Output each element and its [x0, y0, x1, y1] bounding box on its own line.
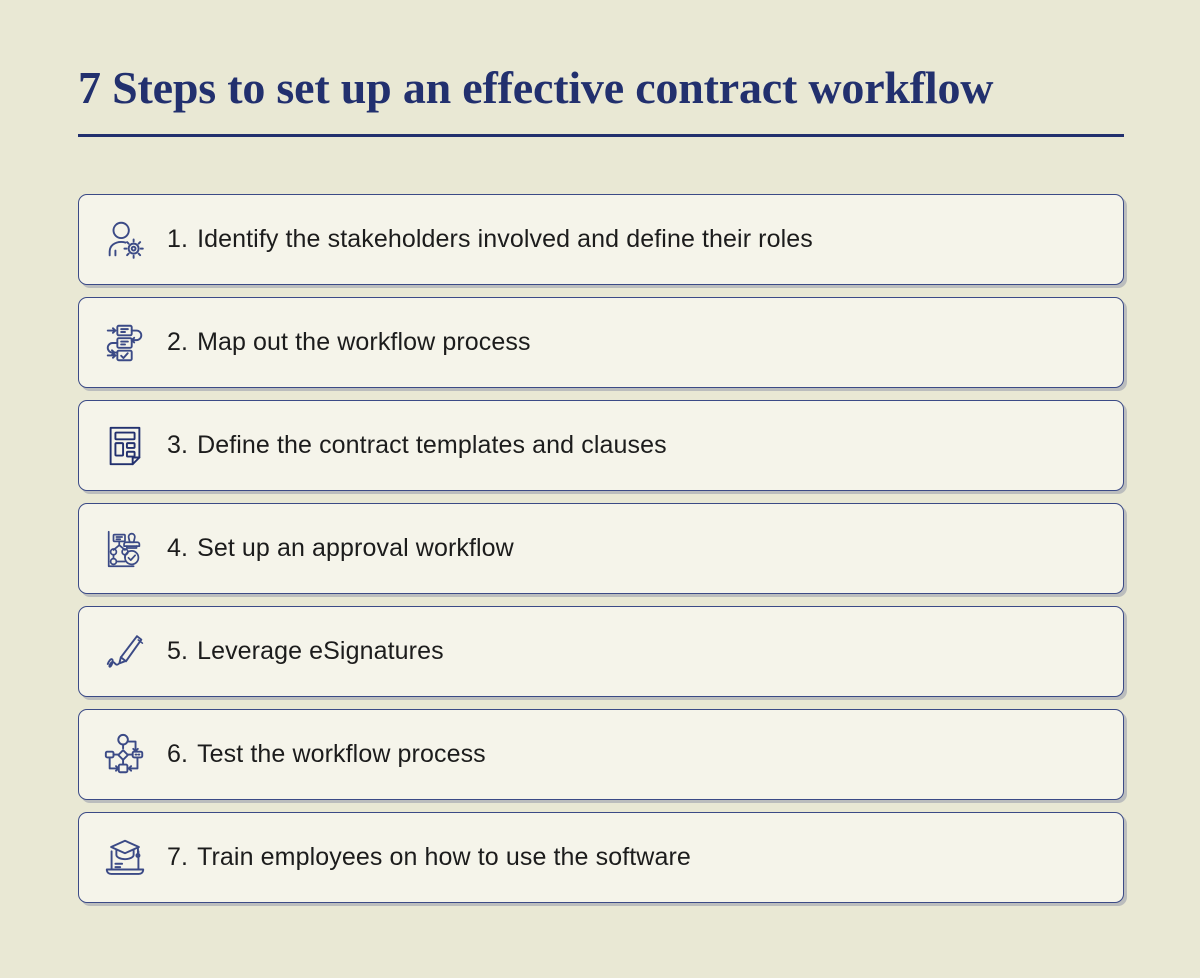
- step-title-4: Set up an approval workflow: [197, 534, 514, 562]
- step-label-7: 7.Train employees on how to use the soft…: [167, 843, 691, 872]
- step-title-3: Define the contract templates and clause…: [197, 431, 667, 459]
- infographic-page: 7 Steps to set up an effective contract …: [0, 0, 1200, 978]
- step-number-7: 7.: [167, 843, 188, 871]
- process-flow-icon: [97, 315, 153, 371]
- laptop-graduation-icon: [97, 830, 153, 886]
- step-number-1: 1.: [167, 225, 188, 253]
- step-title-5: Leverage eSignatures: [197, 637, 444, 665]
- step-label-2: 2.Map out the workflow process: [167, 328, 531, 357]
- step-card-4: 4.Set up an approval workflow: [78, 503, 1124, 594]
- step-number-5: 5.: [167, 637, 188, 665]
- page-title: 7 Steps to set up an effective contract …: [78, 62, 1124, 114]
- step-title-2: Map out the workflow process: [197, 328, 531, 356]
- step-card-3: 3.Define the contract templates and clau…: [78, 400, 1124, 491]
- step-label-5: 5.Leverage eSignatures: [167, 637, 444, 666]
- header: 7 Steps to set up an effective contract …: [78, 62, 1124, 137]
- step-number-2: 2.: [167, 328, 188, 356]
- step-label-1: 1.Identify the stakeholders involved and…: [167, 225, 813, 254]
- step-title-6: Test the workflow process: [197, 740, 486, 768]
- flowchart-nodes-icon: [97, 727, 153, 783]
- document-template-icon: [97, 418, 153, 474]
- signature-pen-icon: [97, 624, 153, 680]
- step-label-4: 4.Set up an approval workflow: [167, 534, 514, 563]
- step-title-1: Identify the stakeholders involved and d…: [197, 225, 813, 253]
- step-title-7: Train employees on how to use the softwa…: [197, 843, 691, 871]
- step-card-6: 6.Test the workflow process: [78, 709, 1124, 800]
- step-card-1: 1.Identify the stakeholders involved and…: [78, 194, 1124, 285]
- steps-list: 1.Identify the stakeholders involved and…: [78, 194, 1124, 903]
- step-number-4: 4.: [167, 534, 188, 562]
- approval-stamp-icon: [97, 521, 153, 577]
- step-number-6: 6.: [167, 740, 188, 768]
- step-card-2: 2.Map out the workflow process: [78, 297, 1124, 388]
- step-number-3: 3.: [167, 431, 188, 459]
- step-label-3: 3.Define the contract templates and clau…: [167, 431, 667, 460]
- step-label-6: 6.Test the workflow process: [167, 740, 486, 769]
- step-card-5: 5.Leverage eSignatures: [78, 606, 1124, 697]
- title-divider: [78, 134, 1124, 137]
- user-settings-icon: [97, 212, 153, 268]
- step-card-7: 7.Train employees on how to use the soft…: [78, 812, 1124, 903]
